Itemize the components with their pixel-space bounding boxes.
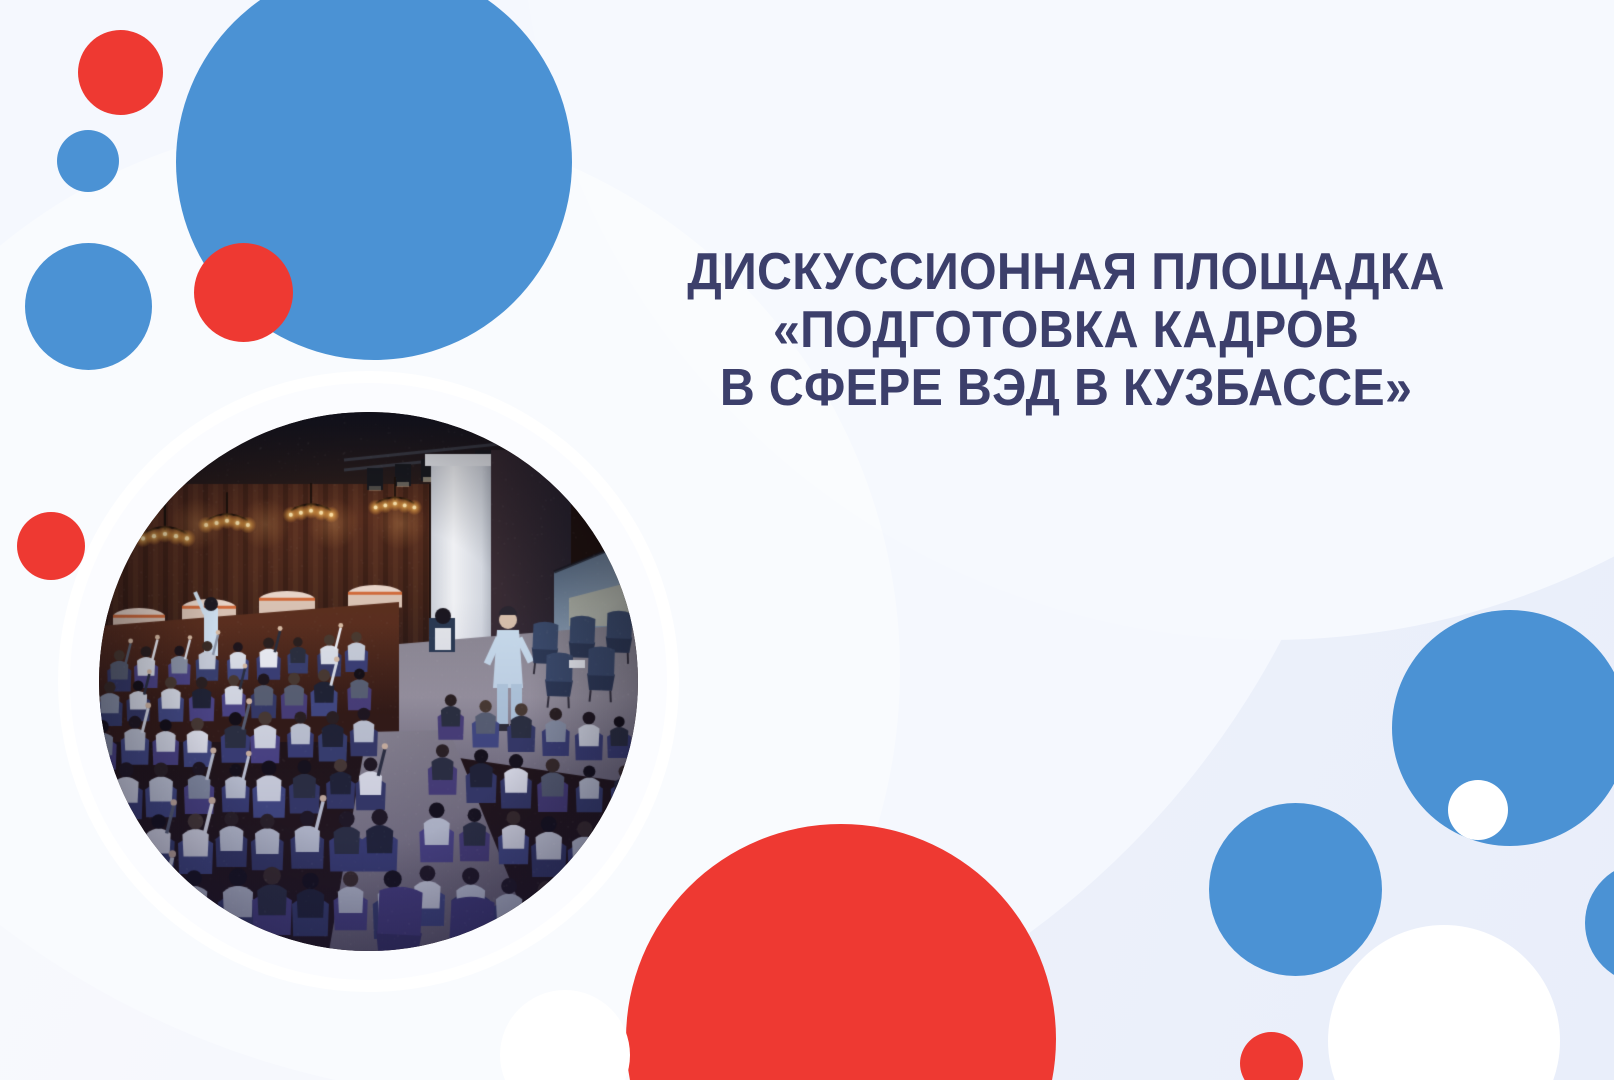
poster-title-line-2: «ПОДГОТОВКА КАДРОВ [666, 301, 1466, 359]
poster-title-line-3: В СФЕРЕ ВЭД В КУЗБАССЕ» [666, 359, 1466, 417]
white-circle-right-small [1448, 780, 1508, 840]
conference-hall-photo [99, 412, 638, 951]
blue-circle-right-mid [1209, 803, 1382, 976]
red-circle-mid-left [194, 243, 293, 342]
poster-title-line-1: ДИСКУССИОННАЯ ПЛОЩАДКА [666, 243, 1466, 301]
poster-canvas: ДИСКУССИОННАЯ ПЛОЩАДКА «ПОДГОТОВКА КАДРО… [0, 0, 1614, 1080]
conference-hall-photo-canvas [99, 412, 638, 951]
red-circle-top-left [78, 30, 163, 115]
poster-title: ДИСКУССИОННАЯ ПЛОЩАДКА «ПОДГОТОВКА КАДРО… [666, 243, 1466, 417]
blue-circle-small-left [57, 130, 119, 192]
red-circle-lower-left [17, 512, 85, 580]
blue-circle-mid-left [25, 243, 152, 370]
